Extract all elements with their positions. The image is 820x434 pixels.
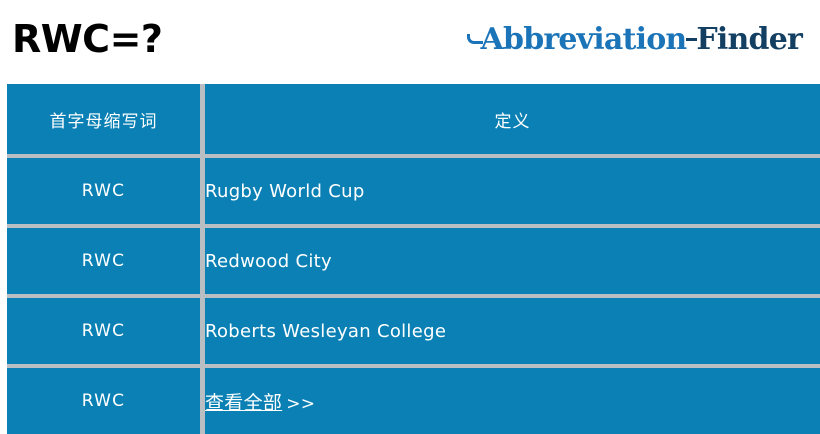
column-header-acronym: 首字母缩写词 bbox=[7, 84, 205, 158]
table-row: RWC Redwood City bbox=[7, 228, 820, 298]
table-row-view-all: RWC 查看全部>> bbox=[7, 368, 820, 434]
abbreviation-finder-logo[interactable]: Abbreviation Finder bbox=[467, 24, 802, 56]
table-row: RWC Roberts Wesleyan College bbox=[7, 298, 820, 368]
cell-definition: Roberts Wesleyan College bbox=[205, 298, 820, 368]
table-row: RWC Rugby World Cup bbox=[7, 158, 820, 228]
cell-acronym: RWC bbox=[7, 158, 205, 228]
logo-text-finder: Finder bbox=[696, 24, 802, 56]
cell-acronym: RWC bbox=[7, 298, 205, 368]
logo-swash-icon bbox=[467, 34, 483, 44]
logo-text-abbreviation: Abbreviation bbox=[481, 24, 687, 56]
abbreviation-table: 首字母缩写词 定义 RWC Rugby World Cup RWC Redwoo… bbox=[7, 84, 820, 434]
cell-acronym: RWC bbox=[7, 228, 205, 298]
cell-definition-view-all[interactable]: 查看全部>> bbox=[205, 368, 820, 434]
logo-separator-icon bbox=[686, 38, 697, 41]
table-header-row: 首字母缩写词 定义 bbox=[7, 84, 820, 158]
page-title: RWC=? bbox=[12, 19, 162, 59]
column-header-definition: 定义 bbox=[205, 84, 820, 158]
page-header: RWC=? Abbreviation Finder bbox=[0, 0, 820, 84]
cell-definition: Rugby World Cup bbox=[205, 158, 820, 228]
view-all-chevrons-icon[interactable]: >> bbox=[286, 394, 315, 414]
cell-acronym: RWC bbox=[7, 368, 205, 434]
cell-definition: Redwood City bbox=[205, 228, 820, 298]
view-all-link[interactable]: 查看全部 bbox=[205, 392, 282, 414]
abbreviation-result-page: RWC=? Abbreviation Finder 首字母缩写词 定义 RWC … bbox=[0, 0, 820, 428]
